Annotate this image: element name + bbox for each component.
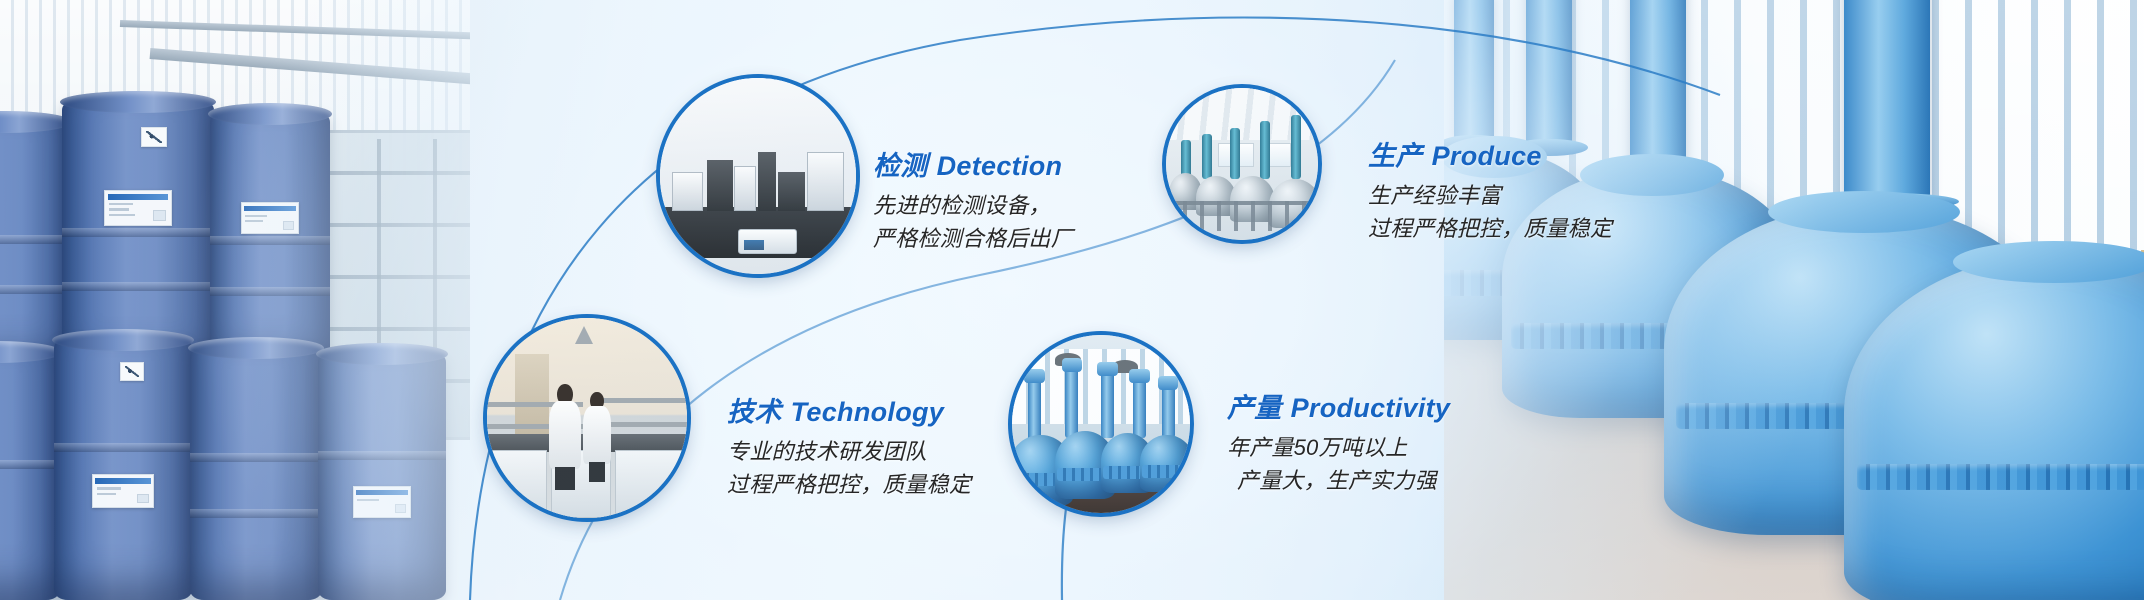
desc-line: 严格检测合格后出厂 — [873, 223, 1073, 256]
drum — [210, 112, 330, 370]
drum — [0, 350, 60, 600]
heading-cn: 生产 — [1368, 141, 1423, 171]
feature-block-technology: 技术Technology 专业的技术研发团队 过程严格把控，质量稳定 — [727, 396, 971, 502]
feature-heading-technology: 技术Technology — [727, 396, 971, 429]
agitator-motor-column — [1630, 0, 1686, 170]
photo-tint — [1166, 88, 1318, 240]
feature-block-detection: 检测Detection 先进的检测设备， 严格检测合格后出厂 — [873, 150, 1073, 256]
background-right-reactors-scene — [1444, 0, 2144, 600]
drum — [0, 120, 70, 370]
desc-line: 过程严格把控，质量稳定 — [727, 469, 971, 502]
feature-heading-detection: 检测Detection — [873, 150, 1073, 183]
factory-strengths-banner: 检测Detection 先进的检测设备， 严格检测合格后出厂 生产Produce… — [0, 0, 2144, 600]
heading-cn: 产量 — [1227, 393, 1282, 423]
background-left-drums-scene — [0, 0, 470, 600]
feature-block-productivity: 产量Productivity 年产量50万吨以上 产量大，生产实力强 — [1227, 392, 1450, 498]
desc-line: 先进的检测设备， — [873, 190, 1073, 223]
feature-desc-productivity: 年产量50万吨以上 产量大，生产实力强 — [1227, 432, 1450, 497]
feature-desc-technology: 专业的技术研发团队 过程严格把控，质量稳定 — [727, 436, 971, 501]
feature-heading-produce: 生产Produce — [1368, 140, 1612, 173]
desc-line: 年产量50万吨以上 — [1227, 432, 1450, 465]
drum — [190, 346, 322, 600]
heading-en: Detection — [937, 151, 1063, 181]
heading-en: Productivity — [1291, 393, 1451, 423]
drum — [318, 352, 446, 600]
feature-block-produce: 生产Produce 生产经验丰富 过程严格把控，质量稳定 — [1368, 140, 1612, 246]
feature-desc-produce: 生产经验丰富 过程严格把控，质量稳定 — [1368, 180, 1612, 245]
heading-cn: 检测 — [873, 151, 928, 181]
agitator-motor-column — [1526, 0, 1572, 144]
photo-circle-technology[interactable] — [487, 318, 687, 518]
photo-tint — [487, 318, 687, 518]
heading-en: Produce — [1432, 141, 1542, 171]
photo-tint — [1012, 335, 1190, 513]
desc-line: 产量大，生产实力强 — [1227, 465, 1450, 498]
desc-line: 专业的技术研发团队 — [727, 436, 971, 469]
photo-circle-produce[interactable] — [1166, 88, 1318, 240]
photo-tint — [660, 78, 856, 274]
feature-desc-detection: 先进的检测设备， 严格检测合格后出厂 — [873, 190, 1073, 255]
agitator-motor-column — [1454, 0, 1494, 140]
photo-circle-detection[interactable] — [660, 78, 856, 274]
heading-cn: 技术 — [727, 397, 782, 427]
agitator-motor-column — [1844, 0, 1930, 198]
desc-line: 生产经验丰富 — [1368, 180, 1612, 213]
photo-circle-productivity[interactable] — [1012, 335, 1190, 513]
desc-line: 过程严格把控，质量稳定 — [1368, 213, 1612, 246]
heading-en: Technology — [791, 397, 945, 427]
drum — [54, 338, 192, 600]
feature-heading-productivity: 产量Productivity — [1227, 392, 1450, 425]
